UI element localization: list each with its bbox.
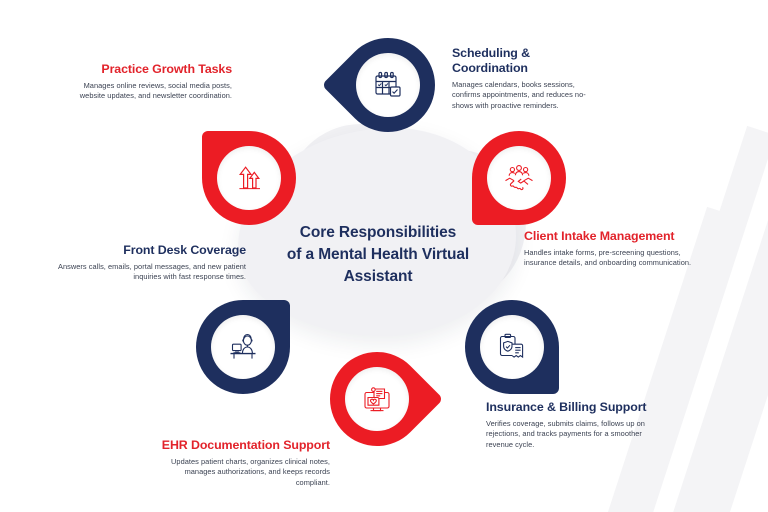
label-description: Manages online reviews, social media pos…: [64, 81, 232, 102]
pin-icon-well: [487, 146, 551, 210]
pin-icon-well: [480, 315, 544, 379]
monitor-medical-records-icon: [360, 382, 394, 416]
receptionist-desk-icon: [226, 330, 260, 364]
pin-insurance-billing[interactable]: [465, 300, 559, 394]
infographic-canvas: Core Responsibilities of a Mental Health…: [0, 0, 768, 512]
center-title-line-3: Assistant: [258, 266, 498, 288]
label-front-desk: Front Desk Coverage Answers calls, email…: [50, 243, 246, 283]
label-title: Scheduling & Coordination: [452, 46, 604, 76]
center-title: Core Responsibilities of a Mental Health…: [258, 222, 498, 288]
background-watermark-stripe: [614, 126, 768, 512]
calendar-check-icon: [371, 68, 405, 102]
growth-arrows-icon: [232, 161, 266, 195]
label-title: EHR Documentation Support: [152, 438, 330, 453]
label-description: Updates patient charts, organizes clinic…: [152, 457, 330, 489]
label-scheduling: Scheduling & Coordination Manages calend…: [452, 46, 604, 111]
pin-client-intake[interactable]: [472, 131, 566, 225]
pin-icon-well: [345, 367, 409, 431]
center-title-line-2: of a Mental Health Virtual: [258, 244, 498, 266]
background-watermark-stripe: [660, 152, 768, 512]
label-ehr-documentation: EHR Documentation Support Updates patien…: [152, 438, 330, 488]
pin-front-desk[interactable]: [196, 300, 290, 394]
label-title: Client Intake Management: [524, 229, 704, 244]
pin-practice-growth[interactable]: [202, 131, 296, 225]
label-description: Handles intake forms, pre-screening ques…: [524, 248, 704, 269]
pin-icon-well: [217, 146, 281, 210]
pin-scheduling[interactable]: [341, 38, 435, 132]
label-description: Answers calls, emails, portal messages, …: [50, 262, 246, 283]
handshake-people-icon: [501, 161, 537, 195]
clipboard-shield-invoice-icon: [495, 330, 529, 364]
label-title: Front Desk Coverage: [50, 243, 246, 258]
label-description: Verifies coverage, submits claims, follo…: [486, 419, 652, 451]
label-title: Practice Growth Tasks: [64, 62, 232, 77]
label-title: Insurance & Billing Support: [486, 400, 652, 415]
label-practice-growth: Practice Growth Tasks Manages online rev…: [64, 62, 232, 102]
pin-icon-well: [211, 315, 275, 379]
label-description: Manages calendars, books sessions, confi…: [452, 80, 604, 112]
pin-ehr-documentation[interactable]: [330, 352, 424, 446]
label-insurance-billing: Insurance & Billing Support Verifies cov…: [486, 400, 652, 450]
center-title-line-1: Core Responsibilities: [258, 222, 498, 244]
pin-icon-well: [356, 53, 420, 117]
label-client-intake: Client Intake Management Handles intake …: [524, 229, 704, 269]
